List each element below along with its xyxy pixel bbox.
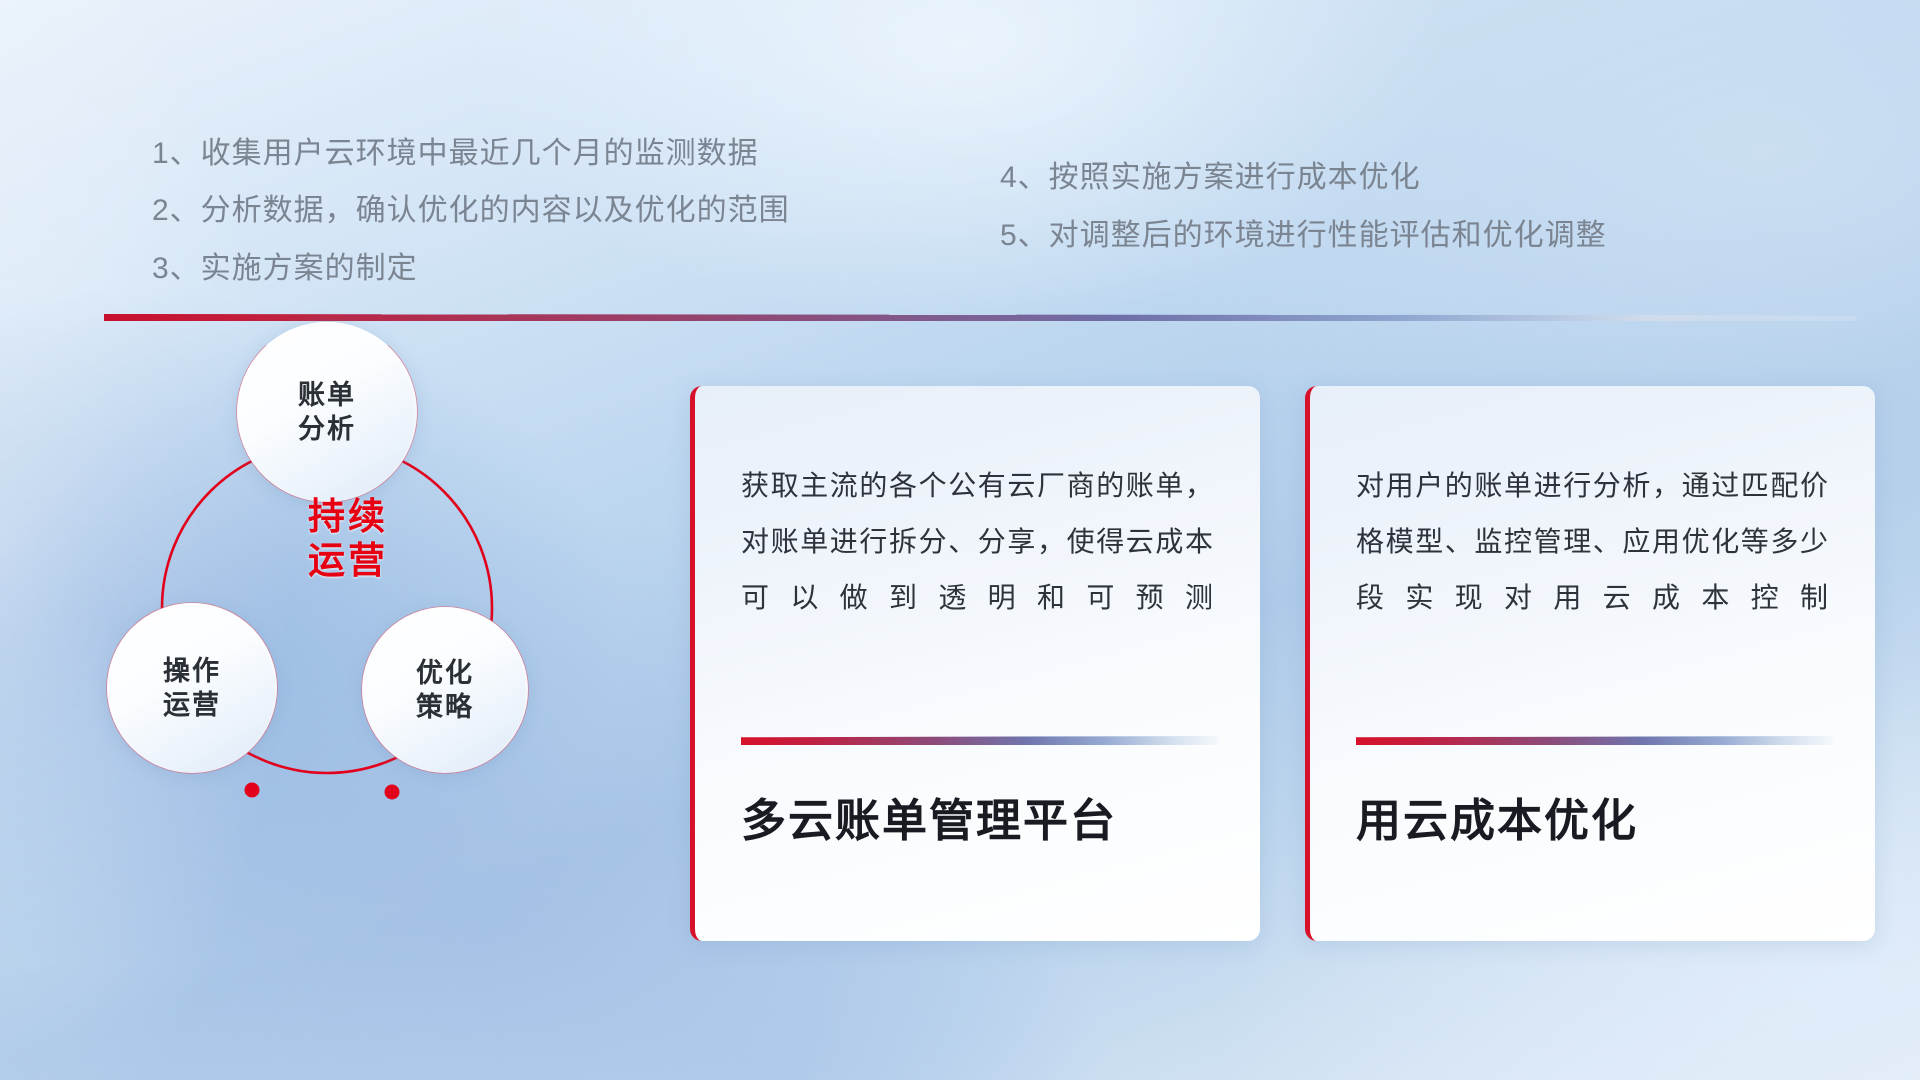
venn-center-label: 持续 运营 bbox=[268, 495, 428, 584]
venn-node-bill-analysis-label: 账单 分析 bbox=[298, 378, 356, 446]
card-divider-line bbox=[1356, 736, 1834, 745]
process-step-2: 2、分析数据，确认优化的内容以及优化的范围 bbox=[152, 185, 790, 229]
process-step-3: 3、实施方案的制定 bbox=[152, 243, 418, 287]
feature-card-cloud-cost-optimization[interactable]: 对用户的账单进行分析，通过匹配价格模型、监控管理、应用优化等多少段实现对用云成本… bbox=[1305, 386, 1875, 941]
feature-card-body: 获取主流的各个公有云厂商的账单，对账单进行拆分、分享，使得云成本可以做到透明和可… bbox=[741, 458, 1214, 626]
process-step-1: 1、收集用户云环境中最近几个月的监测数据 bbox=[152, 128, 759, 172]
venn-node-operations[interactable]: 操作 运营 bbox=[107, 603, 277, 773]
process-step-5: 5、对调整后的环境进行性能评估和优化调整 bbox=[1000, 210, 1607, 254]
feature-card-title: 多云账单管理平台 bbox=[741, 784, 1117, 849]
feature-card-body: 对用户的账单进行分析，通过匹配价格模型、监控管理、应用优化等多少段实现对用云成本… bbox=[1356, 458, 1829, 626]
venn-node-optimization-strategy[interactable]: 优化 策略 bbox=[362, 607, 528, 773]
feature-card-multicloud-billing[interactable]: 获取主流的各个公有云厂商的账单，对账单进行拆分、分享，使得云成本可以做到透明和可… bbox=[690, 386, 1260, 941]
venn-node-optimization-strategy-label: 优化 策略 bbox=[416, 656, 474, 724]
process-step-4: 4、按照实施方案进行成本优化 bbox=[1000, 152, 1421, 196]
continuous-operation-venn-diagram: 账单 分析 操作 运营 优化 策略 持续 运营 bbox=[100, 345, 640, 945]
venn-node-bill-analysis[interactable]: 账单 分析 bbox=[237, 322, 417, 502]
venn-connector-dot-right bbox=[385, 785, 400, 800]
feature-card-title: 用云成本优化 bbox=[1356, 784, 1638, 849]
card-divider-line bbox=[741, 736, 1219, 745]
venn-connector-dot-left bbox=[245, 783, 260, 798]
venn-node-operations-label: 操作 运营 bbox=[163, 654, 221, 722]
